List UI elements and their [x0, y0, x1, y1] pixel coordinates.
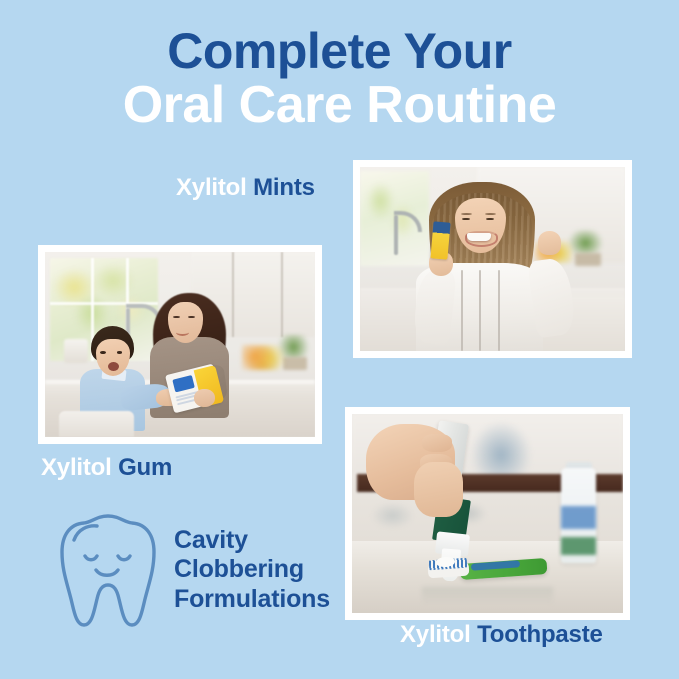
sink-faucet-shape	[371, 502, 414, 530]
xylitol-mints-tube-shape	[430, 222, 450, 260]
canister-shape	[64, 339, 88, 363]
page-title: Complete Your Oral Care Routine	[0, 26, 679, 132]
photo-mints	[360, 167, 625, 351]
photo-gum	[45, 252, 315, 437]
cabinet-seam-shape	[281, 252, 283, 337]
cabinet-seam-shape	[232, 252, 234, 337]
sweater-cable-shape	[479, 270, 481, 351]
mouthwash-label-shape	[561, 506, 596, 530]
sweater-cable-shape	[498, 270, 500, 351]
photo-frame-toothpaste	[345, 407, 630, 620]
badge-text: Cavity Clobbering Formulations	[174, 526, 330, 615]
faucet-shape	[394, 215, 398, 255]
girl-eyebrow-shape	[485, 213, 496, 215]
badge-line-1: Cavity	[174, 526, 330, 556]
mouthwash-green-band-shape	[561, 537, 596, 555]
caption-toothpaste-emphasis: Toothpaste	[477, 621, 603, 648]
girl-eyebrow-shape	[461, 213, 472, 215]
caption-xylitol-gum: Xylitol Gum	[41, 454, 172, 482]
headline-line-1: Complete Your	[0, 26, 679, 77]
sweater-cable-shape	[461, 270, 463, 351]
chair-shape	[59, 411, 135, 437]
fruit-bowl-shape	[242, 345, 285, 371]
photo-toothpaste	[352, 414, 623, 613]
girl-teeth-shape	[467, 233, 491, 240]
mother-hand-shape	[194, 389, 216, 408]
mother-eye-shape	[188, 316, 194, 318]
caption-xylitol-toothpaste: Xylitol Toothpaste	[400, 621, 603, 649]
mother-eye-shape	[173, 316, 179, 318]
caption-mints-prefix: Xylitol	[176, 174, 253, 201]
caption-xylitol-mints: Xylitol Mints	[176, 174, 315, 202]
photo-frame-gum	[38, 245, 322, 444]
lower-hand-shape	[414, 462, 463, 518]
caption-gum-emphasis: Gum	[118, 454, 172, 481]
girl-right-hand-shape	[538, 231, 562, 255]
pouch-label-shape	[172, 375, 195, 393]
photo-gum-scene	[45, 252, 315, 437]
badge-line-3: Formulations	[174, 585, 330, 615]
plant-pot-shape	[575, 253, 602, 266]
smiling-tooth-icon	[56, 507, 160, 633]
foliage-shape	[363, 176, 421, 250]
blurred-person-shape	[471, 422, 531, 482]
photo-toothpaste-scene	[352, 414, 623, 613]
caption-mints-emphasis: Mints	[253, 174, 315, 201]
photo-mints-scene	[360, 167, 625, 351]
badge-line-2: Clobbering	[174, 555, 330, 585]
plant-pot-shape	[283, 357, 307, 370]
counter-reflection-shape	[422, 587, 552, 605]
photo-frame-mints	[353, 160, 632, 358]
caption-gum-prefix: Xylitol	[41, 454, 118, 481]
poster-canvas: Complete Your Oral Care Routine Xylitol …	[0, 0, 679, 679]
caption-toothpaste-prefix: Xylitol	[400, 621, 477, 648]
finger-shape	[422, 434, 452, 452]
cavity-clobbering-badge: Cavity Clobbering Formulations	[56, 505, 346, 635]
headline-line-2: Oral Care Routine	[0, 79, 679, 132]
